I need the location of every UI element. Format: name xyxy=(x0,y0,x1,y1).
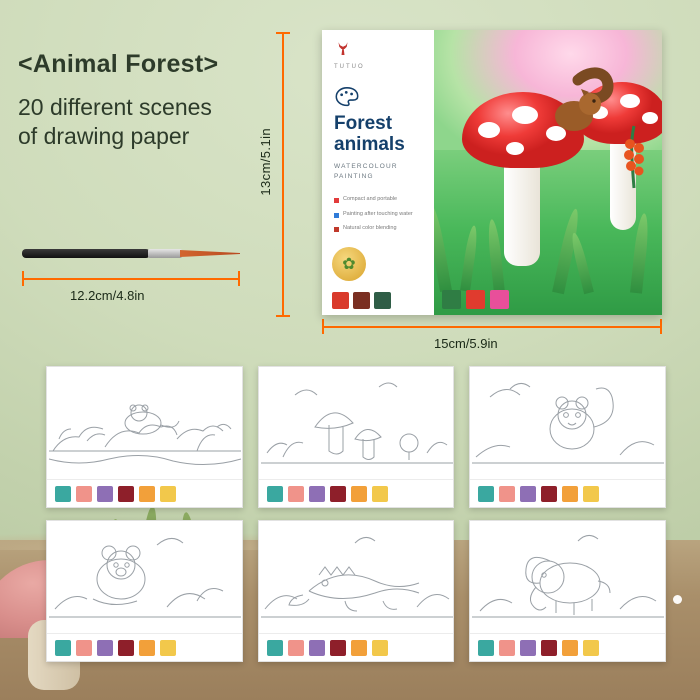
paint-swatch-icon xyxy=(583,486,599,502)
paint-swatch-icon xyxy=(372,486,388,502)
package-width-label: 15cm/5.9in xyxy=(434,336,498,351)
swatch-icon xyxy=(490,290,509,309)
package-title-line-2: animals xyxy=(334,134,405,155)
package-feature-list: Compact and portable Painting after touc… xyxy=(334,196,424,234)
package-height-tick-bottom xyxy=(276,315,290,317)
brush-tip xyxy=(180,250,240,257)
paint-swatch-icon xyxy=(139,640,155,656)
paint-swatch-icon xyxy=(499,486,515,502)
paint-swatch-icon xyxy=(97,486,113,502)
card-artwork xyxy=(470,367,666,479)
paint-swatch-icon xyxy=(478,486,494,502)
paint-swatch-icon xyxy=(76,486,92,502)
paint-swatch-icon xyxy=(330,640,346,656)
cards-row-2 xyxy=(46,520,666,662)
card-paint-strip xyxy=(470,633,666,661)
deer-logo-icon xyxy=(334,40,424,61)
paint-swatch-icon xyxy=(55,640,71,656)
paint-swatch-icon xyxy=(139,486,155,502)
brush-measure-tick-right xyxy=(238,271,240,286)
carousel-dot-icon[interactable] xyxy=(673,595,682,604)
paint-swatch-icon xyxy=(478,640,494,656)
package-height-tick-top xyxy=(276,32,290,34)
package-width-tick-left xyxy=(322,319,324,334)
product-image: <Animal Forest> 20 different scenes of d… xyxy=(0,0,700,700)
grass-blade-icon xyxy=(569,232,594,295)
paint-swatch-icon xyxy=(520,486,536,502)
card-bear-scene[interactable] xyxy=(46,520,243,662)
card-crocodile-scene[interactable] xyxy=(258,520,455,662)
card-paint-strip xyxy=(47,479,243,507)
brush-length-label: 12.2cm/4.8in xyxy=(70,288,144,303)
paint-swatch-icon xyxy=(562,486,578,502)
paint-swatch-icon xyxy=(76,640,92,656)
package-feature-text: Painting after touching water xyxy=(343,211,413,219)
card-squirrel-scene[interactable] xyxy=(469,366,666,508)
paint-swatch-icon xyxy=(267,486,283,502)
card-artwork xyxy=(259,367,455,479)
paint-swatch-icon xyxy=(541,640,557,656)
paint-swatch-icon xyxy=(288,486,304,502)
card-paint-strip xyxy=(47,633,243,661)
leaf-seal-icon: ✿ xyxy=(332,247,366,281)
package-height-label: 13cm/5.1in xyxy=(258,128,273,196)
berry-cluster-icon xyxy=(610,122,658,192)
squirrel-icon xyxy=(526,58,622,154)
swatch-icon xyxy=(332,292,349,309)
card-artwork xyxy=(259,521,455,633)
card-paint-strip xyxy=(470,479,666,507)
paint-swatch-icon xyxy=(118,486,134,502)
card-paint-strip xyxy=(259,633,455,661)
swatch-icon xyxy=(466,290,485,309)
package-subtitle-line-2: PAINTING xyxy=(334,172,424,182)
package-width-line xyxy=(322,326,662,328)
mushroom-meadow-scene xyxy=(259,367,455,479)
swatch-icon xyxy=(442,290,461,309)
package-subtitle-line-1: WATERCOLOUR xyxy=(334,162,424,172)
swatch-icon xyxy=(353,292,370,309)
mushroom-spot xyxy=(506,142,524,155)
package-feature-text: Natural color blending xyxy=(343,225,397,233)
paint-swatch-icon xyxy=(351,640,367,656)
bear-cub-scene xyxy=(47,521,243,633)
package-feature-text: Compact and portable xyxy=(343,196,397,204)
bullet-square-icon xyxy=(334,213,339,218)
paint-swatch-icon xyxy=(583,640,599,656)
package-subtitle: WATERCOLOUR PAINTING xyxy=(334,162,424,182)
paint-swatch-icon xyxy=(520,640,536,656)
card-artwork xyxy=(47,367,243,479)
mushroom-stem xyxy=(504,158,540,266)
grass-blade-icon xyxy=(486,219,505,294)
headline-subtitle: 20 different scenes of drawing paper xyxy=(18,93,218,151)
headline-block: <Animal Forest> 20 different scenes of d… xyxy=(18,50,218,151)
paint-swatch-icon xyxy=(309,486,325,502)
bullet-square-icon xyxy=(334,198,339,203)
headline-line-1: 20 different scenes xyxy=(18,93,218,122)
paint-swatch-icon xyxy=(541,486,557,502)
card-artwork xyxy=(47,521,243,633)
brush-measure-line xyxy=(22,278,240,280)
package-front-swatches xyxy=(332,292,391,309)
brush-measure-tick-left xyxy=(22,271,24,286)
brush-handle xyxy=(22,249,150,258)
paint-swatch-icon xyxy=(372,640,388,656)
package-feature-item: Natural color blending xyxy=(334,225,424,233)
package-title: Forest animals xyxy=(334,114,424,155)
headline-line-2: of drawing paper xyxy=(18,122,218,151)
card-mushrooms-scene[interactable] xyxy=(258,366,455,508)
paint-swatch-icon xyxy=(351,486,367,502)
card-paint-strip xyxy=(259,479,455,507)
paint-swatch-icon xyxy=(97,640,113,656)
elephant-scene xyxy=(470,521,666,633)
package-title-line-1: Forest xyxy=(334,113,392,134)
paint-swatch-icon xyxy=(55,486,71,502)
squirrel-scene xyxy=(470,367,666,479)
brand-text: TUTUO xyxy=(334,64,424,70)
paint-swatch-icon xyxy=(309,640,325,656)
package-feature-item: Painting after touching water xyxy=(334,211,424,219)
paint-swatch-icon xyxy=(160,640,176,656)
paint-swatch-icon xyxy=(288,640,304,656)
paint-swatch-icon xyxy=(118,640,134,656)
grass-blade-icon xyxy=(460,225,479,292)
product-package: TUTUO Forest animals WATERCOLOUR PAINTIN… xyxy=(322,30,662,315)
package-cover-artwork xyxy=(434,30,662,315)
bullet-square-icon xyxy=(334,227,339,232)
paint-swatch-icon xyxy=(499,640,515,656)
grass-blade-icon xyxy=(434,203,452,292)
card-elephant-scene[interactable] xyxy=(469,520,666,662)
swatch-icon xyxy=(374,292,391,309)
package-feature-item: Compact and portable xyxy=(334,196,424,204)
package-width-tick-right xyxy=(660,319,662,334)
paint-swatch-icon xyxy=(160,486,176,502)
mushroom-spot xyxy=(620,94,640,108)
leaf-glyph: ✿ xyxy=(342,254,355,274)
sample-cards-grid xyxy=(46,366,666,674)
card-artwork xyxy=(470,521,666,633)
paint-swatch-icon xyxy=(267,640,283,656)
paint-brush-icon xyxy=(22,246,240,260)
crocodile-scene xyxy=(259,521,455,633)
headline-title: <Animal Forest> xyxy=(18,50,218,79)
monkey-on-log-scene xyxy=(47,367,243,479)
package-front-panel: TUTUO Forest animals WATERCOLOUR PAINTIN… xyxy=(322,30,434,315)
package-side-swatches xyxy=(442,290,509,309)
package-height-line xyxy=(282,32,284,317)
card-monkey-scene[interactable] xyxy=(46,366,243,508)
palette-icon xyxy=(334,86,360,108)
cards-row-1 xyxy=(46,366,666,508)
mushroom-spot xyxy=(478,122,500,138)
paint-swatch-icon xyxy=(562,640,578,656)
paint-swatch-icon xyxy=(330,486,346,502)
brush-ferrule xyxy=(148,249,182,258)
